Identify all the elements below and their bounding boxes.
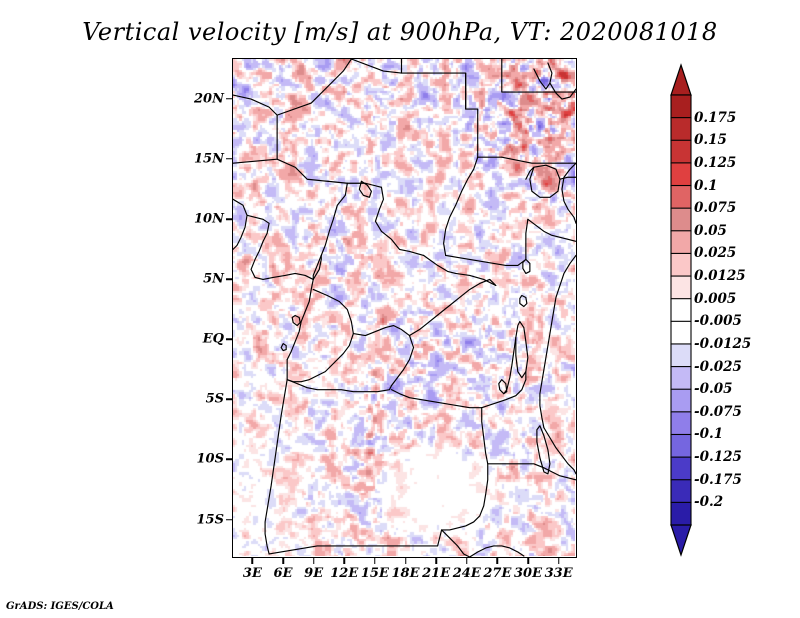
colorbar-band (671, 412, 691, 435)
page-title: Vertical velocity [m/s] at 900hPa, VT: 2… (0, 18, 800, 46)
colorbar-band (671, 208, 691, 231)
colorbar-band (671, 276, 691, 299)
lon-tick (466, 558, 468, 564)
colorbar-bottom-arrow (671, 525, 691, 555)
lon-tick (405, 558, 407, 564)
lon-label-3E: 3E (243, 566, 262, 581)
colorbar-top-arrow (671, 65, 691, 95)
lon-label-15E: 15E (361, 566, 389, 581)
colorbar-label-12: -0.05 (694, 381, 732, 397)
lat-tick (226, 459, 232, 461)
colorbar-band (671, 299, 691, 322)
colorbar-band (671, 140, 691, 163)
colorbar-label-5: 0.05 (694, 223, 727, 239)
colorbar-band (671, 163, 691, 186)
lat-tick (226, 158, 232, 160)
lon-label-27E: 27E (483, 566, 511, 581)
lon-label-24E: 24E (453, 566, 481, 581)
lon-tick (374, 558, 376, 564)
lon-tick (435, 558, 437, 564)
colorbar-label-8: 0.005 (694, 291, 736, 307)
lat-tick (226, 519, 232, 521)
colorbar-swatches (671, 65, 691, 555)
colorbar-label-10: -0.0125 (694, 336, 751, 352)
lat-label-EQ: EQ (203, 332, 224, 347)
map-plot-area[interactable] (232, 58, 577, 558)
colorbar-label-11: -0.025 (694, 359, 742, 375)
lat-label-5N: 5N (203, 272, 224, 287)
colorbar-label-6: 0.025 (694, 245, 736, 261)
colorbar-band (671, 434, 691, 457)
colorbar-band (671, 95, 691, 118)
colorbar-band (671, 186, 691, 209)
colorbar[interactable] (671, 65, 691, 555)
colorbar-band (671, 457, 691, 480)
lon-tick (282, 558, 284, 564)
lon-tick (252, 558, 254, 564)
colorbar-label-7: 0.0125 (694, 268, 746, 284)
lat-label-20N: 20N (194, 91, 224, 106)
colorbar-label-15: -0.125 (694, 449, 742, 465)
colorbar-label-16: -0.175 (694, 472, 742, 488)
colorbar-label-2: 0.125 (694, 155, 736, 171)
lat-tick (226, 339, 232, 341)
colorbar-label-17: -0.2 (694, 494, 723, 510)
colorbar-band (671, 231, 691, 254)
lon-label-12E: 12E (330, 566, 358, 581)
lon-tick (497, 558, 499, 564)
lon-label-6E: 6E (274, 566, 293, 581)
colorbar-label-0: 0.175 (694, 110, 736, 126)
lon-label-21E: 21E (422, 566, 450, 581)
lon-label-9E: 9E (304, 566, 323, 581)
lon-label-33E: 33E (545, 566, 573, 581)
lat-tick (226, 218, 232, 220)
colorbar-band (671, 389, 691, 412)
colorbar-band (671, 502, 691, 525)
colorbar-label-4: 0.075 (694, 200, 736, 216)
vertical-velocity-field (233, 59, 575, 556)
lon-tick (558, 558, 560, 564)
colorbar-band (671, 253, 691, 276)
lon-label-30E: 30E (514, 566, 542, 581)
colorbar-band (671, 367, 691, 390)
lon-label-18E: 18E (392, 566, 420, 581)
colorbar-band (671, 321, 691, 344)
grads-plot-window: Vertical velocity [m/s] at 900hPa, VT: 2… (0, 0, 800, 618)
lat-label-10N: 10N (194, 212, 224, 227)
lon-tick (313, 558, 315, 564)
lon-tick (344, 558, 346, 564)
lat-tick (226, 278, 232, 280)
lat-tick (226, 98, 232, 100)
colorbar-label-9: -0.005 (694, 313, 742, 329)
lat-label-5S: 5S (206, 392, 224, 407)
colorbar-label-3: 0.1 (694, 178, 718, 194)
colorbar-band (671, 344, 691, 367)
lon-tick (527, 558, 529, 564)
lat-label-15N: 15N (194, 151, 224, 166)
colorbar-band (671, 480, 691, 503)
lat-label-10S: 10S (197, 452, 224, 467)
lat-tick (226, 399, 232, 401)
colorbar-label-14: -0.1 (694, 426, 723, 442)
colorbar-band (671, 118, 691, 141)
grads-attribution: GrADS: IGES/COLA (6, 601, 114, 612)
colorbar-label-1: 0.15 (694, 132, 727, 148)
lat-label-15S: 15S (197, 512, 224, 527)
colorbar-label-13: -0.075 (694, 404, 742, 420)
